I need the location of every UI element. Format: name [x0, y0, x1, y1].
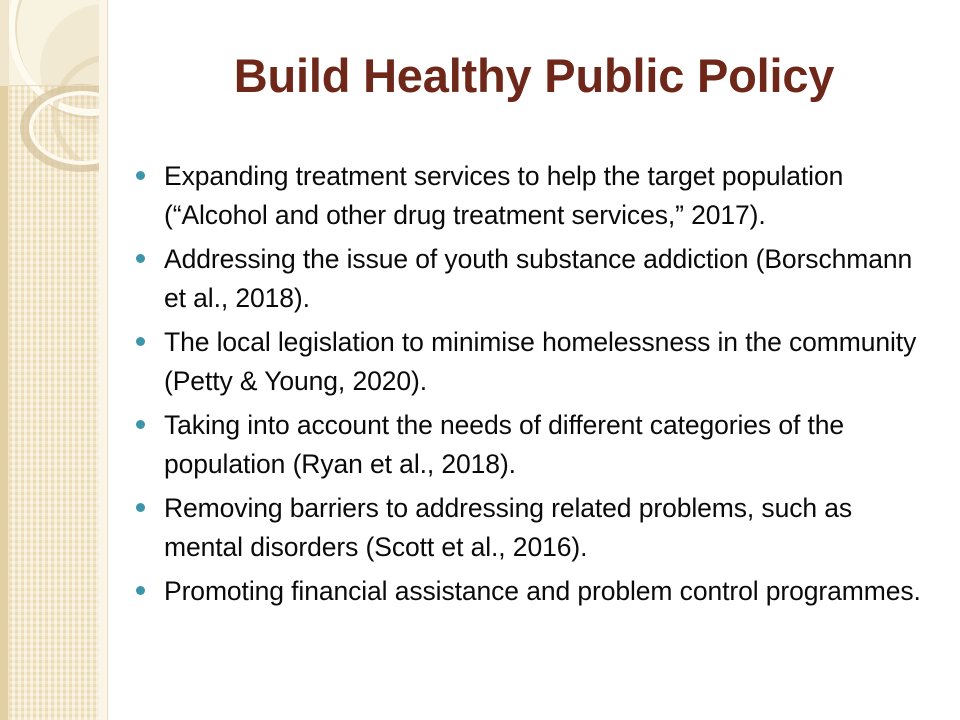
list-item: Taking into account the needs of differe…: [136, 406, 936, 484]
list-item-text: Removing barriers to addressing related …: [164, 489, 936, 567]
slide-body-bullet-list: Expanding treatment services to help the…: [136, 157, 936, 616]
list-item-text: Addressing the issue of youth substance …: [164, 240, 936, 318]
bullet-dot-icon: [136, 171, 145, 180]
list-item-text: Taking into account the needs of differe…: [164, 406, 936, 484]
bullet-dot-icon: [136, 420, 145, 429]
sidebar-horizontal-rule: [0, 85, 108, 86]
sidebar-border-line: [107, 0, 108, 720]
list-item: Removing barriers to addressing related …: [136, 489, 936, 567]
sidebar-vertical-rule: [8, 0, 9, 720]
list-item: Addressing the issue of youth substance …: [136, 240, 936, 318]
bullet-dot-icon: [136, 337, 145, 346]
list-item-text: Expanding treatment services to help the…: [164, 157, 936, 235]
list-item-text: Promoting financial assistance and probl…: [164, 572, 936, 611]
bullet-dot-icon: [136, 503, 145, 512]
list-item-text: The local legislation to minimise homele…: [164, 323, 936, 401]
bullet-dot-icon: [136, 254, 145, 263]
bullet-dot-icon: [136, 586, 145, 595]
presentation-slide: Build Healthy Public Policy Expanding tr…: [0, 0, 960, 720]
list-item: Promoting financial assistance and probl…: [136, 572, 936, 611]
sidebar-left-edge-strip: [0, 86, 8, 720]
slide-sidebar-decoration: [0, 0, 108, 720]
slide-title: Build Healthy Public Policy: [108, 52, 960, 99]
sidebar-left-edge-strip-top: [0, 0, 8, 86]
list-item: Expanding treatment services to help the…: [136, 157, 936, 235]
list-item: The local legislation to minimise homele…: [136, 323, 936, 401]
